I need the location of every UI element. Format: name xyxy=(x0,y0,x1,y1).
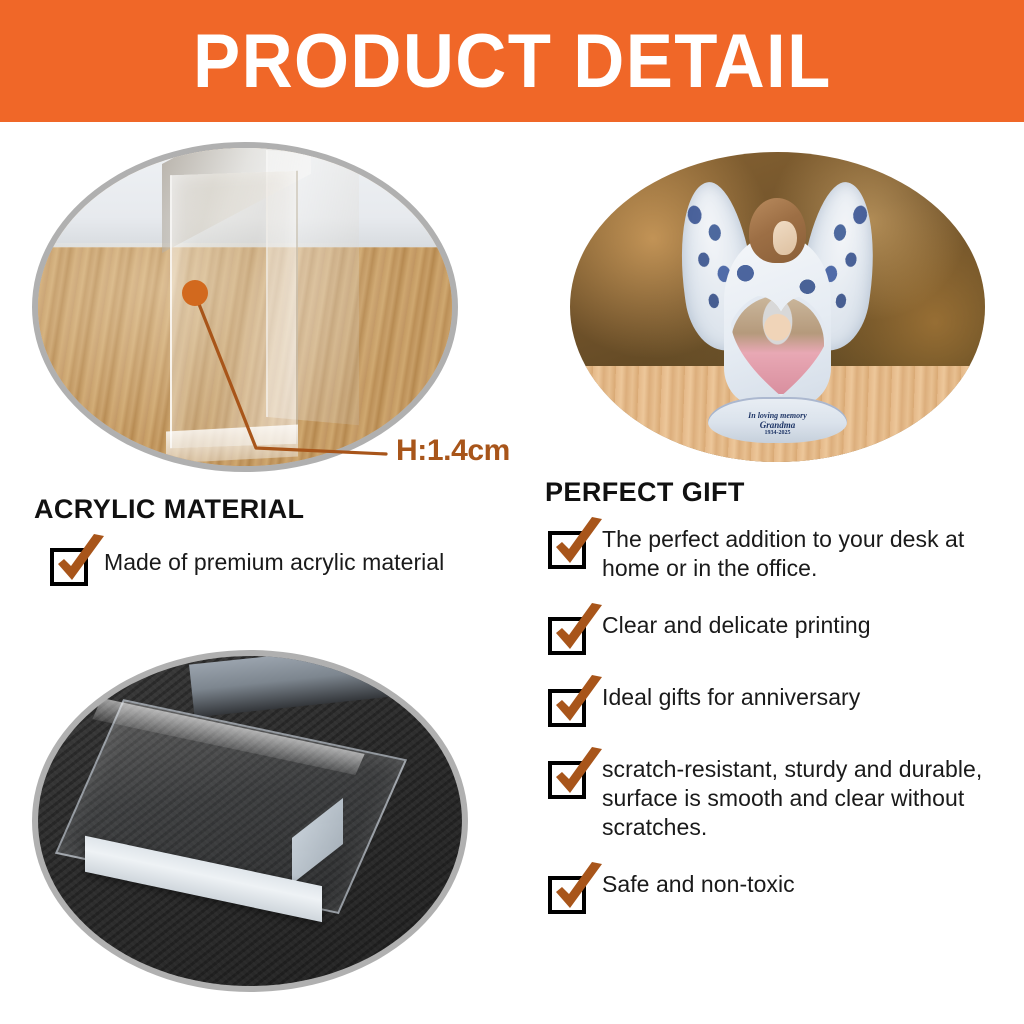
list-item: Safe and non-toxic xyxy=(548,870,1008,914)
section-heading-acrylic-material: ACRYLIC MATERIAL xyxy=(34,494,304,525)
engraving-line-3: 1934-2025 xyxy=(764,430,790,436)
feature-list-perfect-gift: The perfect addition to your desk at hom… xyxy=(548,525,1008,942)
checkbox-checked-icon[interactable] xyxy=(548,761,586,799)
feature-text: Ideal gifts for anniversary xyxy=(602,683,860,712)
leader-line xyxy=(195,294,386,454)
checkbox-checked-icon[interactable] xyxy=(548,689,586,727)
checkbox-checked-icon[interactable] xyxy=(548,617,586,655)
checkmark-icon xyxy=(548,675,610,731)
measure-point-dot xyxy=(182,280,208,306)
dimension-label: H:1.4cm xyxy=(396,434,510,468)
angel-head xyxy=(749,198,805,263)
slate-far-edge xyxy=(189,656,462,718)
slate-background xyxy=(38,656,462,986)
list-item: scratch-resistant, sturdy and durable, s… xyxy=(548,755,1008,842)
list-item: Clear and delicate printing xyxy=(548,611,1008,655)
checkbox-checked-icon[interactable] xyxy=(548,876,586,914)
section-heading-perfect-gift: PERFECT GIFT xyxy=(545,477,745,508)
angel-figurine: In loving memory Grandma 1934-2025 xyxy=(695,171,861,444)
list-item: Made of premium acrylic material xyxy=(50,542,520,586)
feature-text: Clear and delicate printing xyxy=(602,611,871,640)
feature-text: Safe and non-toxic xyxy=(602,870,795,899)
feature-text: scratch-resistant, sturdy and durable, s… xyxy=(602,755,1002,842)
list-item: Ideal gifts for anniversary xyxy=(548,683,1008,727)
checkmark-icon xyxy=(50,534,112,590)
header-banner: PRODUCT DETAIL xyxy=(0,0,1024,122)
figurine-base: In loving memory Grandma 1934-2025 xyxy=(708,397,847,443)
checkbox-checked-icon[interactable] xyxy=(50,548,88,586)
photo-acrylic-block-on-slate xyxy=(38,656,462,986)
feature-text: Made of premium acrylic material xyxy=(104,548,444,577)
feature-text: The perfect addition to your desk at hom… xyxy=(602,525,1002,583)
page-title: PRODUCT DETAIL xyxy=(193,24,832,100)
checkmark-icon xyxy=(548,517,610,573)
dimension-callout-leader xyxy=(150,270,410,470)
checkmark-icon xyxy=(548,747,610,803)
angel-face xyxy=(773,221,797,255)
photo-angel-memorial-figurine: In loving memory Grandma 1934-2025 xyxy=(570,152,985,462)
list-item: The perfect addition to your desk at hom… xyxy=(548,525,1008,583)
engraving-line-2: Grandma xyxy=(760,421,796,430)
checkmark-icon xyxy=(548,603,610,659)
checkmark-icon xyxy=(548,862,610,918)
checkbox-checked-icon[interactable] xyxy=(548,531,586,569)
feature-list-acrylic-material: Made of premium acrylic material xyxy=(50,542,520,586)
